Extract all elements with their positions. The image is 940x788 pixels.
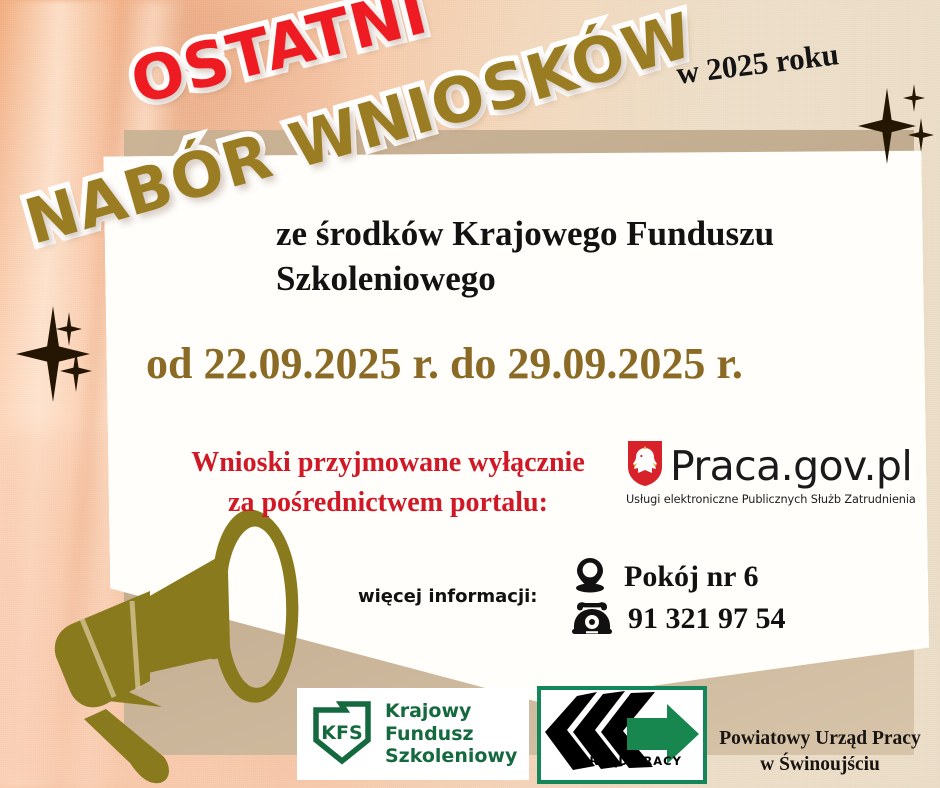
sparkle-icon <box>56 312 82 346</box>
notice-line-2: za pośrednictwem portalu: <box>164 483 612 523</box>
kfs-line-1: Krajowy <box>385 700 471 722</box>
headline-year: w 2025 roku <box>674 36 840 92</box>
kfs-line-3: Szkoleniowy <box>385 745 517 767</box>
polish-eagle-icon <box>626 439 664 492</box>
kfs-logo-text: Krajowy Fundusz Szkoleniowy <box>385 700 517 768</box>
praca-gov-pl-logo[interactable]: Praca.gov.pl Usługi elektroniczne Public… <box>626 439 916 506</box>
praca-gov-pl-subtitle: Usługi elektroniczne Publicznych Służb Z… <box>626 493 916 506</box>
sparkle-icon <box>903 84 925 112</box>
notice-line-1: Wnioski przyjmowane wyłącznie <box>164 443 612 483</box>
sparkle-icon <box>60 350 92 392</box>
contact-room-row: Pokój nr 6 <box>570 556 786 598</box>
praca-gov-pl-wordmark: Praca.gov.pl <box>670 442 912 490</box>
office-line-2: w Świnoujściu <box>760 754 880 775</box>
subtitle-fund-name: ze środków Krajowego Funduszu Szkoleniow… <box>276 212 921 302</box>
phone-value: 91 321 97 54 <box>628 602 786 636</box>
submission-notice: Wnioski przyjmowane wyłącznie za pośredn… <box>164 443 612 523</box>
room-value: Pokój nr 6 <box>624 560 758 594</box>
office-line-1: Powiatowy Urząd Pracy <box>719 728 920 749</box>
kfs-logo: KFS Krajowy Fundusz Szkoleniowy <box>297 688 529 780</box>
megaphone-icon <box>22 505 322 788</box>
kfs-shield-text: KFS <box>321 722 362 744</box>
kfs-shield-icon: KFS <box>311 698 373 771</box>
poster-canvas: OSTATNI NABÓR WNIOSKÓW w 2025 roku ze śr… <box>0 0 940 788</box>
sparkle-icon <box>16 306 90 402</box>
contact-block: Pokój nr 6 91 321 97 54 <box>570 556 786 640</box>
office-name: Powiatowy Urząd Pracy w Świnoujściu <box>706 726 934 779</box>
urzad-pracy-logo: URZĄD PRACY <box>537 686 707 784</box>
telephone-icon <box>570 598 614 641</box>
map-pin-icon <box>570 555 610 600</box>
date-range: od 22.09.2025 r. do 29.09.2025 r. <box>146 338 743 389</box>
contact-phone-row: 91 321 97 54 <box>570 598 786 640</box>
kfs-line-2: Fundusz <box>385 723 474 745</box>
urzad-pracy-label: URZĄD PRACY <box>579 754 682 768</box>
more-info-label: więcej informacji: <box>358 586 538 607</box>
